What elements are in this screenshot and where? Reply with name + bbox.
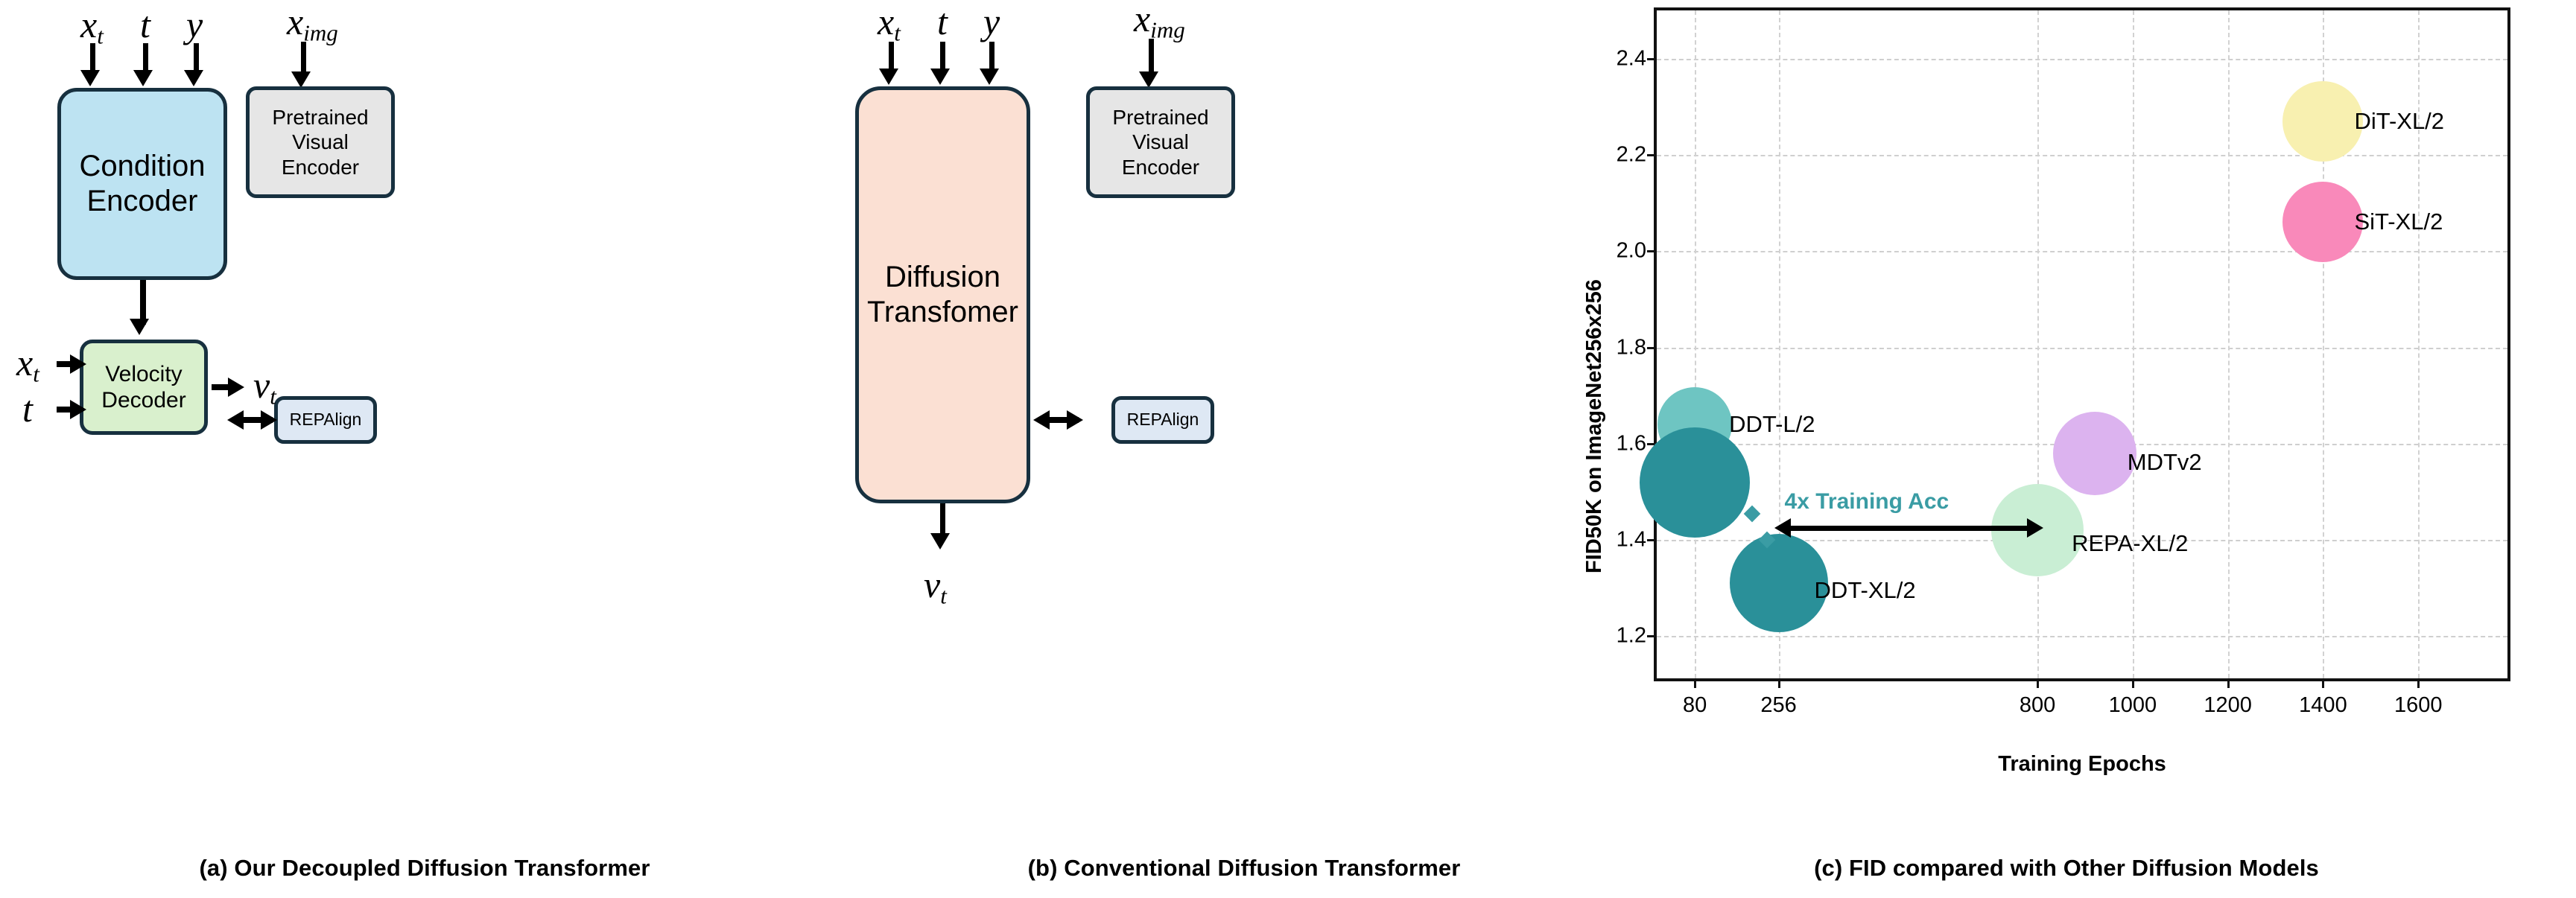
condition-encoder-box: Condition Encoder bbox=[57, 88, 227, 280]
chart-bubble-label: DDT-XL/2 bbox=[1815, 577, 1916, 604]
pve-line2-a: Visual bbox=[292, 130, 349, 153]
gridline-vertical bbox=[2133, 10, 2134, 678]
y-tick-label: 1.2 bbox=[1617, 624, 1646, 649]
chart-bubble[interactable] bbox=[2282, 81, 2363, 162]
panel-decoupled-diffusion-transformer: xt t y ximg Condition Encoder Pretrained… bbox=[0, 0, 849, 898]
x-tick-mark bbox=[1778, 678, 1780, 688]
chart-bubble-label: MDTv2 bbox=[2128, 449, 2202, 476]
input-label-ximg-b: ximg bbox=[1134, 0, 1185, 42]
x-tick-label: 1000 bbox=[2109, 693, 2157, 718]
chart-bubble-label: DiT-XL/2 bbox=[2354, 108, 2444, 135]
y-tick-label: 2.2 bbox=[1617, 142, 1646, 167]
gridline-horizontal bbox=[1657, 59, 2507, 60]
y-tick-mark bbox=[1647, 58, 1657, 60]
x-tick-label: 800 bbox=[2020, 693, 2055, 718]
x-tick-label: 256 bbox=[1760, 693, 1796, 718]
x-tick-mark bbox=[2322, 678, 2324, 688]
panel-fid-scatter-chart: 1.21.41.61.82.02.22.48025680010001200140… bbox=[1557, 0, 2576, 898]
x-tick-label: 1400 bbox=[2299, 693, 2347, 718]
condition-encoder-line2: Encoder bbox=[87, 185, 198, 217]
chart-bubble-label: DDT-L/2 bbox=[1729, 411, 1815, 438]
gridline-vertical bbox=[2228, 10, 2230, 678]
velocity-decoder-line2: Decoder bbox=[101, 388, 185, 413]
velocity-decoder-line1: Velocity bbox=[105, 362, 182, 386]
x-tick-mark bbox=[2417, 678, 2420, 688]
y-tick-mark bbox=[1647, 635, 1657, 637]
y-tick-mark bbox=[1647, 539, 1657, 541]
input-label-t-a: t bbox=[140, 6, 150, 43]
chart-bubble-label: REPA-XL/2 bbox=[2072, 530, 2188, 557]
input-label-xt-a: xt bbox=[80, 6, 104, 48]
diffusion-transformer-line1: Diffusion bbox=[885, 261, 1000, 293]
decoder-input-t: t bbox=[22, 390, 33, 427]
chart-bubble-label: SiT-XL/2 bbox=[2354, 208, 2443, 235]
pve-line1-a: Pretrained bbox=[272, 106, 368, 129]
repalign-box-a: REPAlign bbox=[274, 396, 377, 444]
chart-bubble[interactable] bbox=[2282, 182, 2363, 262]
y-tick-label: 2.4 bbox=[1617, 46, 1646, 71]
pve-line3-a: Encoder bbox=[282, 156, 359, 179]
decoder-input-xt: xt bbox=[16, 344, 39, 386]
chart-bubble[interactable] bbox=[1640, 427, 1750, 538]
x-tick-mark bbox=[2037, 678, 2039, 688]
x-tick-label: 1600 bbox=[2394, 693, 2443, 718]
pve-line3-b: Encoder bbox=[1122, 156, 1199, 179]
chart-bubble[interactable] bbox=[1730, 534, 1828, 632]
pretrained-visual-encoder-box-b: Pretrained Visual Encoder bbox=[1086, 86, 1235, 198]
condition-encoder-line1: Condition bbox=[79, 150, 205, 182]
x-tick-mark bbox=[2132, 678, 2134, 688]
input-label-xt-b: xt bbox=[878, 3, 901, 45]
y-tick-label: 2.0 bbox=[1617, 239, 1646, 264]
annotation-text: 4x Training Acc bbox=[1785, 489, 1950, 515]
x-tick-mark bbox=[1694, 678, 1696, 688]
chart-bubble[interactable] bbox=[2053, 412, 2136, 495]
y-tick-mark bbox=[1647, 250, 1657, 252]
x-tick-mark bbox=[2227, 678, 2230, 688]
y-tick-label: 1.4 bbox=[1617, 528, 1646, 553]
output-label-vt-b: vt bbox=[924, 566, 947, 608]
repalign-box-b: REPAlign bbox=[1111, 396, 1214, 444]
caption-panel-b: (b) Conventional Diffusion Transformer bbox=[849, 855, 1639, 882]
repalign-label-a: REPAlign bbox=[290, 410, 362, 430]
pve-line1-b: Pretrained bbox=[1112, 106, 1208, 129]
y-tick-label: 1.6 bbox=[1617, 431, 1646, 456]
gridline-horizontal bbox=[1657, 155, 2507, 156]
chart-x-axis-label: Training Epochs bbox=[1654, 752, 2510, 777]
gridline-vertical bbox=[2037, 10, 2039, 678]
y-tick-mark bbox=[1647, 154, 1657, 156]
pve-line2-b: Visual bbox=[1132, 130, 1189, 153]
caption-panel-a: (a) Our Decoupled Diffusion Transformer bbox=[0, 855, 849, 882]
y-tick-label: 1.8 bbox=[1617, 335, 1646, 360]
y-tick-mark bbox=[1647, 347, 1657, 349]
annotation-diamond bbox=[1743, 505, 1760, 522]
output-label-vt-a: vt bbox=[253, 366, 276, 408]
x-tick-label: 80 bbox=[1683, 693, 1707, 718]
gridline-horizontal bbox=[1657, 251, 2507, 252]
chart-y-axis-label: FID50K on ImageNet256x256 bbox=[1582, 279, 1607, 573]
gridline-vertical bbox=[1695, 10, 1696, 678]
annotation-arrow-head-left bbox=[1774, 518, 1791, 538]
input-label-y-b: y bbox=[983, 3, 1000, 40]
repalign-label-b: REPAlign bbox=[1127, 410, 1199, 430]
x-tick-label: 1200 bbox=[2204, 693, 2252, 718]
gridline-horizontal bbox=[1657, 348, 2507, 349]
caption-panel-c: (c) FID compared with Other Diffusion Mo… bbox=[1557, 855, 2576, 882]
velocity-decoder-box: Velocity Decoder bbox=[80, 340, 208, 435]
annotation-arrow-shaft bbox=[1789, 526, 2028, 531]
annotation-arrow-head-right bbox=[2027, 518, 2043, 538]
input-label-y-a: y bbox=[186, 6, 203, 43]
panel-conventional-diffusion-transformer: xt t y ximg Diffusion Transfomer Pretrai… bbox=[849, 0, 1639, 898]
chart-plot-area: 1.21.41.61.82.02.22.48025680010001200140… bbox=[1654, 7, 2510, 681]
input-label-t-b: t bbox=[937, 3, 948, 40]
input-label-ximg-a: ximg bbox=[287, 3, 338, 45]
gridline-horizontal bbox=[1657, 636, 2507, 637]
diffusion-transformer-line2: Transfomer bbox=[867, 296, 1018, 328]
diffusion-transformer-box: Diffusion Transfomer bbox=[855, 86, 1030, 503]
pretrained-visual-encoder-box-a: Pretrained Visual Encoder bbox=[246, 86, 395, 198]
